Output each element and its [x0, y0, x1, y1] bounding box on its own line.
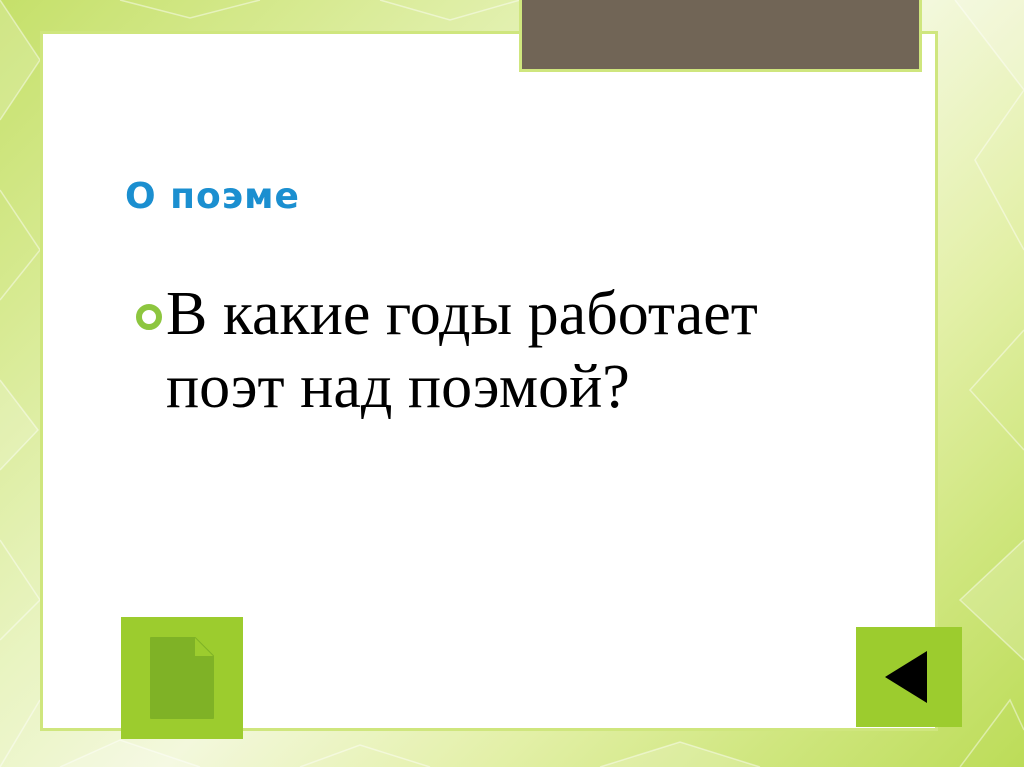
- bullet-text: В какие годы работает поэт над поэмой?: [166, 278, 816, 424]
- page-title: О поэме: [125, 176, 300, 217]
- back-arrow-icon[interactable]: [856, 627, 962, 727]
- document-icon[interactable]: [121, 617, 243, 739]
- list-item: В какие годы работает поэт над поэмой?: [136, 278, 856, 424]
- header-tab: [519, 0, 922, 72]
- bullet-circle-icon: [136, 304, 162, 330]
- slide: О поэме В какие годы работает поэт над п…: [0, 0, 1024, 767]
